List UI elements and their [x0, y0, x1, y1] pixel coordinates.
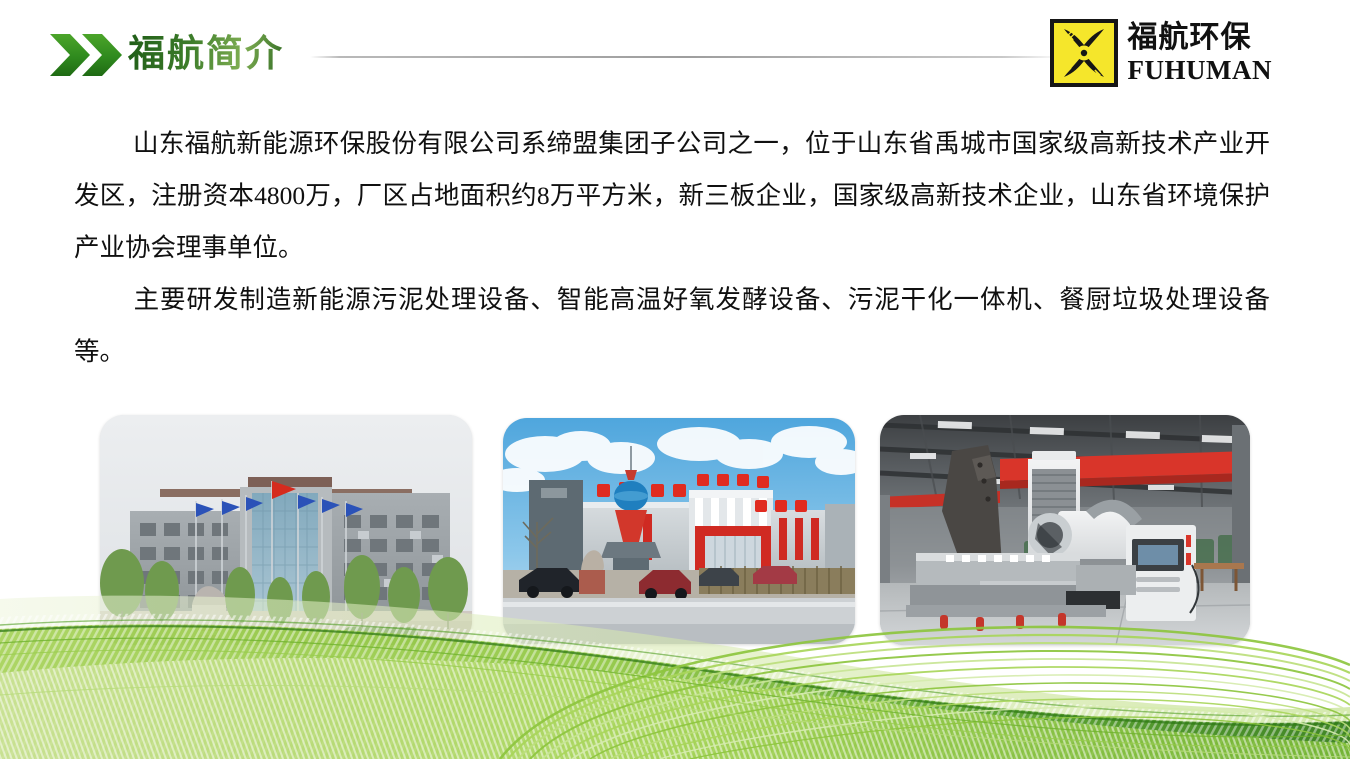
company-logo: F F F F 福航环保 FUHUMAN	[1050, 18, 1272, 88]
paragraph-2: 主要研发制造新能源污泥处理设备、智能高温好氧发酵设备、污泥干化一体机、餐厨垃圾处…	[74, 274, 1270, 378]
double-chevron-icon	[48, 30, 126, 80]
header-divider-line	[310, 56, 1062, 58]
office-building-photo	[100, 415, 472, 645]
page-title: 福航简介	[128, 30, 284, 80]
photo-gallery	[0, 415, 1350, 647]
logo-english-name: FUHUMAN	[1128, 57, 1272, 84]
factory-gate-photo	[503, 418, 855, 644]
paragraph-2-text: 主要研发制造新能源污泥处理设备、智能高温好氧发酵设备、污泥干化一体机、餐厨垃圾处…	[74, 285, 1270, 366]
cnc-machine-photo	[880, 415, 1250, 645]
slide-header: 福航简介 福航简介 F F F F	[0, 0, 1350, 100]
slide-root: 福航简介 福航简介 F F F F	[0, 0, 1350, 759]
paragraph-1-text: 山东福航新能源环保股份有限公司系缔盟集团子公司之一，位于山东省禹城市国家级高新技…	[74, 129, 1270, 262]
paragraph-1: 山东福航新能源环保股份有限公司系缔盟集团子公司之一，位于山东省禹城市国家级高新技…	[74, 118, 1270, 274]
logo-chinese-name: 福航环保	[1128, 23, 1272, 53]
body-copy: 山东福航新能源环保股份有限公司系缔盟集团子公司之一，位于山东省禹城市国家级高新技…	[74, 118, 1270, 378]
logo-wordmark: 福航环保 FUHUMAN	[1128, 23, 1272, 84]
logo-emblem-icon: F F F F	[1050, 19, 1118, 87]
